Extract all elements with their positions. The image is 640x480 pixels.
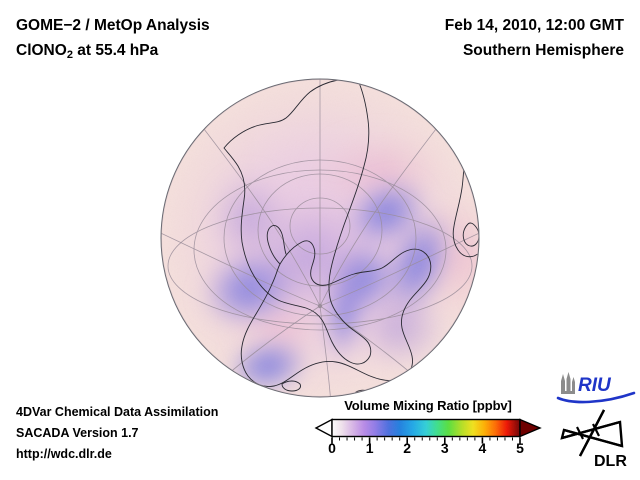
coastline-australia xyxy=(446,388,466,398)
dlr-logo-svg: DLR xyxy=(560,408,636,470)
colorbar-tick-label: 4 xyxy=(478,440,486,456)
footer-credits: 4DVar Chemical Data Assimilation SACADA … xyxy=(16,402,218,465)
colorbar-tick-label: 3 xyxy=(441,440,449,456)
colorbar-right-cap xyxy=(520,420,540,437)
pressure-level-label: at 55.4 hPa xyxy=(73,42,158,59)
colorbar-tick-label: 1 xyxy=(366,440,374,456)
hemisphere-label: Southern Hemisphere xyxy=(445,38,624,63)
coastline-africa-east xyxy=(477,138,480,202)
riu-tower-icon xyxy=(561,372,575,394)
colorbar-tick-labels: 012345 xyxy=(312,440,544,458)
header-left: GOME−2 / MetOp Analysis ClONO2 at 55.4 h… xyxy=(16,13,210,65)
analysis-title: GOME−2 / MetOp Analysis xyxy=(16,13,210,38)
colorbar-tick-label: 5 xyxy=(516,440,524,456)
species-subscript: 2 xyxy=(67,49,73,61)
dlr-wordmark: DLR xyxy=(594,453,627,470)
colorbar-strip xyxy=(312,418,544,438)
coastline-new-zealand xyxy=(456,381,470,386)
species-label: ClONO xyxy=(16,42,67,59)
species-level-title: ClONO2 at 55.4 hPa xyxy=(16,38,210,65)
riu-logo-svg: RIU xyxy=(556,370,636,404)
dlr-mark-icon xyxy=(562,410,622,456)
colorbar-grain xyxy=(332,420,520,437)
method-label: 4DVar Chemical Data Assimilation xyxy=(16,402,218,423)
colorbar: Volume Mixing Ratio [ppbv] 012345 xyxy=(312,398,544,458)
riu-wordmark: RIU xyxy=(578,375,612,396)
riu-logo: RIU xyxy=(556,370,636,404)
globe-map xyxy=(160,78,480,398)
colorbar-tick-label: 2 xyxy=(403,440,411,456)
globe-disc xyxy=(160,78,480,398)
timestamp-label: Feb 14, 2010, 12:00 GMT xyxy=(445,13,624,38)
colorbar-tick-label: 0 xyxy=(328,440,336,456)
dlr-logo: DLR xyxy=(560,408,636,470)
colorbar-left-cap xyxy=(316,420,332,437)
header-right: Feb 14, 2010, 12:00 GMT Southern Hemisph… xyxy=(445,13,624,63)
version-label: SACADA Version 1.7 xyxy=(16,423,218,444)
south-pole-point xyxy=(318,304,322,308)
orthographic-projection xyxy=(160,78,480,398)
colorbar-title: Volume Mixing Ratio [ppbv] xyxy=(312,398,544,413)
source-url-label[interactable]: http://wdc.dlr.de xyxy=(16,444,218,465)
